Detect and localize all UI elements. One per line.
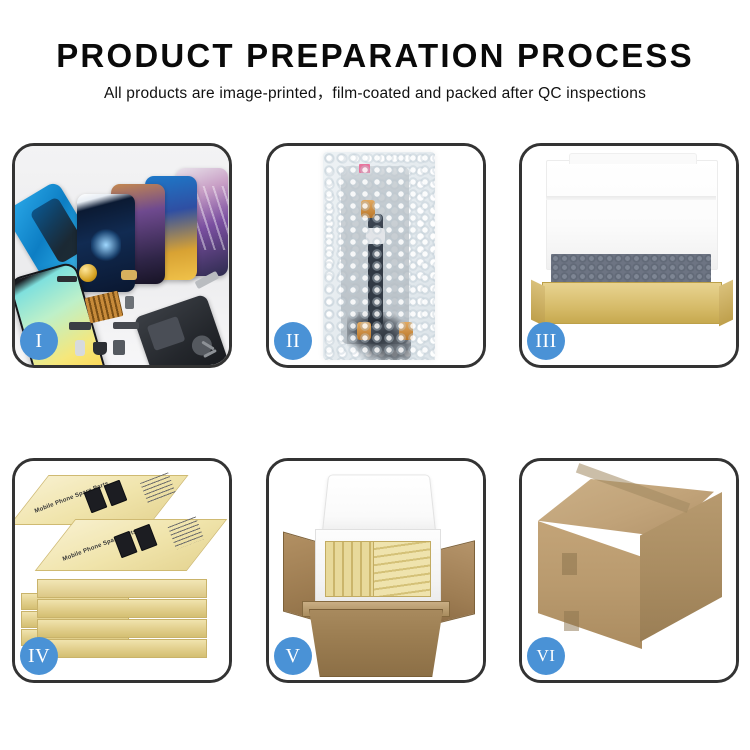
- spare-part: [57, 276, 77, 282]
- page-subtitle: All products are image-printed，film-coat…: [0, 83, 750, 105]
- step-badge-4: IV: [20, 637, 58, 675]
- carton-handle-tab: [562, 553, 577, 575]
- process-step-card-1[interactable]: I: [12, 143, 232, 368]
- spare-part: [113, 340, 125, 355]
- process-step-card-6[interactable]: VI: [519, 458, 739, 683]
- process-step-card-3[interactable]: III: [519, 143, 739, 368]
- speaker-module: [79, 264, 97, 282]
- process-step-grid: I II III: [0, 130, 750, 750]
- box-lid-fold: [546, 196, 716, 200]
- pink-label-tab: [359, 164, 370, 173]
- process-step-card-2[interactable]: II: [266, 143, 486, 368]
- packed-retail-boxes: [373, 541, 431, 597]
- spare-part: [93, 342, 107, 355]
- page-title: PRODUCT PREPARATION PROCESS: [0, 36, 750, 76]
- step-badge-3: III: [527, 322, 565, 360]
- carton-front-face: [538, 521, 642, 649]
- connector: [361, 200, 375, 218]
- step-badge-1: I: [20, 322, 58, 360]
- carton-body: [309, 609, 443, 677]
- spare-part: [125, 296, 134, 309]
- carton-handle-tab: [564, 611, 579, 631]
- spare-part: [121, 270, 137, 280]
- step-badge-6: VI: [527, 637, 565, 675]
- spare-part: [75, 340, 85, 356]
- connector: [399, 322, 413, 340]
- phone-back-housing: [133, 294, 228, 368]
- page-header: PRODUCT PREPARATION PROCESS All products…: [0, 0, 750, 130]
- screw-tray-icon: [85, 291, 124, 324]
- retail-box: [37, 579, 207, 598]
- kraft-box-tray: [542, 282, 722, 324]
- step-badge-5: V: [274, 637, 312, 675]
- step-badge-2: II: [274, 322, 312, 360]
- retail-box: [37, 639, 207, 658]
- retail-box: [37, 599, 207, 618]
- retail-box: [37, 619, 207, 638]
- process-step-card-4[interactable]: Mobile Phone Spare Parts Mobile Phone Sp…: [12, 458, 232, 683]
- spare-part: [113, 322, 139, 329]
- spare-part: [69, 322, 91, 330]
- bubble-wrap-bag: [323, 152, 435, 360]
- flex-cable: [368, 214, 383, 326]
- process-step-card-5[interactable]: V: [266, 458, 486, 683]
- connector: [357, 322, 371, 340]
